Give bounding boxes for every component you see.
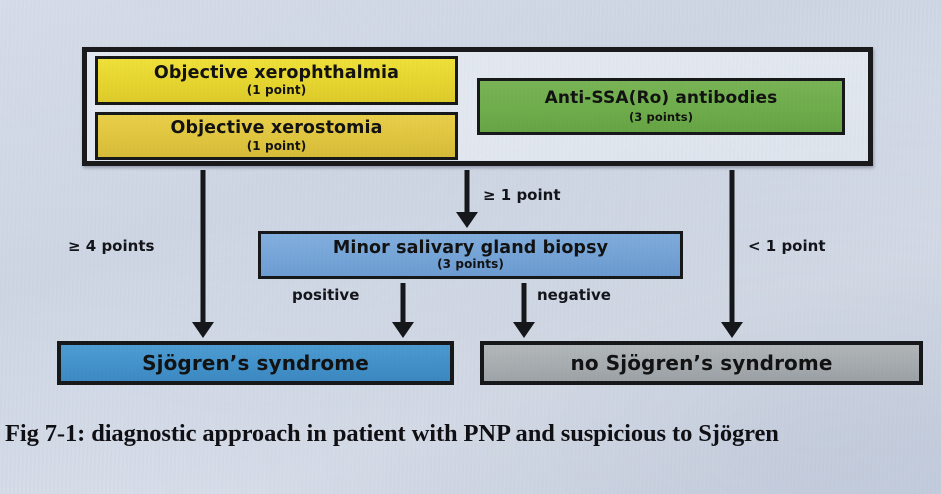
node-points: (1 point) [247,84,307,97]
edge-label-one-point: ≥ 1 point [483,186,560,204]
node-title: Objective xerostomia [170,119,382,137]
arrow-shaft [730,170,735,322]
node-points: (3 points) [629,111,693,124]
arrow-head-icon [721,322,743,338]
node-no-sjogren-syndrome[interactable]: no Sjögren’s syndrome [480,341,923,385]
arrow-shaft [465,170,470,212]
node-title: Minor salivary gland biopsy [333,239,608,257]
node-points: (1 point) [247,140,307,153]
node-anti-ssa-antibodies[interactable]: Anti-SSA(Ro) antibodies (3 points) [477,78,845,135]
arrow-head-icon [392,322,414,338]
edge-label-negative: negative [537,286,611,304]
figure-caption: Fig 7-1: diagnostic approach in patient … [5,420,941,448]
node-sjogren-syndrome[interactable]: Sjögren’s syndrome [57,341,454,385]
arrow-down-to-biopsy [455,170,479,228]
edge-label-four-points: ≥ 4 points [68,237,154,255]
arrow-shaft [401,283,406,322]
arrow-head-icon [456,212,478,228]
arrow-shaft [522,283,527,322]
node-objective-xerostomia[interactable]: Objective xerostomia (1 point) [95,112,458,160]
node-title: Sjögren’s syndrome [142,353,369,374]
node-title: Objective xerophthalmia [154,64,399,82]
arrow-down-to-sjogren [191,170,215,338]
arrow-shaft [201,170,206,322]
arrow-biopsy-negative [512,283,536,338]
arrow-head-icon [192,322,214,338]
arrow-down-to-no-sjogren [720,170,744,338]
figure-page: Objective xerophthalmia (1 point) Object… [0,0,941,494]
arrow-head-icon [513,322,535,338]
node-objective-xerophthalmia[interactable]: Objective xerophthalmia (1 point) [95,56,458,105]
node-title: Anti-SSA(Ro) antibodies [545,90,778,108]
node-title: no Sjögren’s syndrome [571,353,833,374]
node-points: (3 points) [437,258,504,271]
node-minor-salivary-gland-biopsy[interactable]: Minor salivary gland biopsy (3 points) [258,231,683,279]
arrow-biopsy-positive [391,283,415,338]
edge-label-positive: positive [292,286,359,304]
edge-label-less-than-one-point: < 1 point [748,237,825,255]
